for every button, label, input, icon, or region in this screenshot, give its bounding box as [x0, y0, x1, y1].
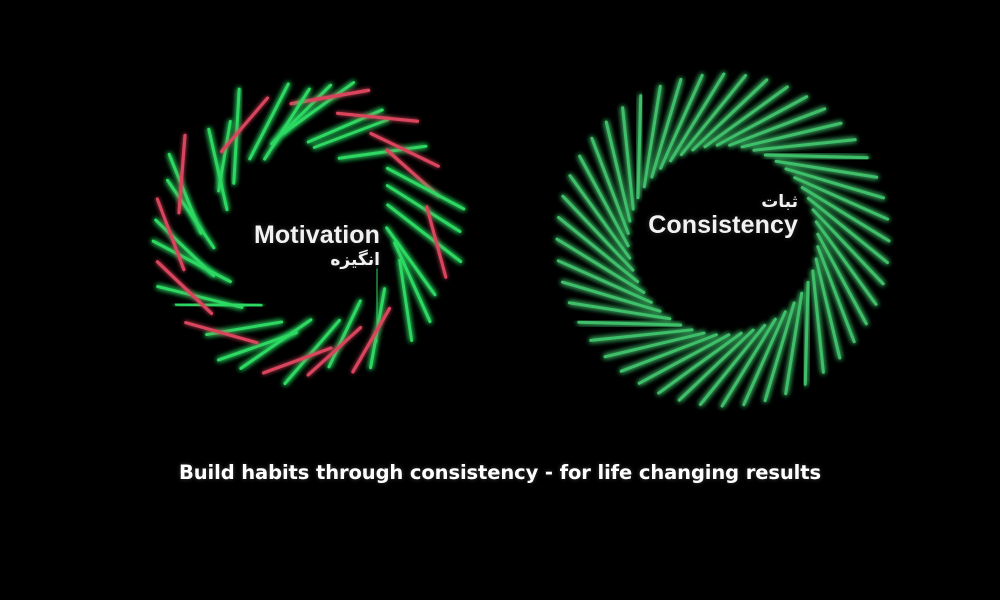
- motivation-segment-green: [265, 89, 310, 159]
- motivation-segment-green: [250, 84, 289, 159]
- consistency-segment-green: [805, 282, 808, 384]
- consistency-label-fa: ثبات: [618, 194, 798, 211]
- motivation-segment-green: [209, 129, 227, 209]
- motivation-segment-red: [338, 113, 418, 121]
- consistency-segment-green: [765, 155, 867, 158]
- motivation-segment-green: [219, 121, 231, 191]
- consistency-segment-green: [638, 96, 641, 198]
- consistency-label: ثبات Consistency: [618, 194, 798, 239]
- motivation-segment-red: [186, 323, 257, 343]
- motivation-segment-green: [387, 168, 464, 209]
- consistency-segment-green: [786, 169, 884, 198]
- motivation-segment-green: [400, 260, 412, 340]
- consistency-segment-green: [579, 322, 681, 325]
- consistency-segment-green: [562, 282, 660, 311]
- motivation-label: Motivation انگیزه: [175, 223, 380, 269]
- motivation-segment-green: [387, 186, 460, 232]
- motivation-segment-green: [176, 304, 261, 305]
- poster-canvas: Motivation انگیزه ثبات Consistency Build…: [0, 0, 1000, 600]
- motivation-label-en: Motivation: [175, 223, 380, 249]
- motivation-segment-green: [169, 154, 201, 233]
- motivation-segment-green: [285, 320, 340, 383]
- motivation-segment-green: [387, 228, 435, 295]
- consistency-segment-group: [557, 74, 889, 406]
- motivation-label-fa: انگیزه: [175, 252, 380, 269]
- motivation-segment-red: [308, 328, 360, 375]
- consistency-label-en: Consistency: [618, 213, 798, 239]
- radial-segments-artwork: [0, 0, 1000, 600]
- motivation-segment-red: [371, 134, 438, 167]
- consistency-segment-green: [652, 79, 681, 177]
- caption-text: Build habits through consistency - for l…: [0, 461, 1000, 484]
- consistency-segment-green: [765, 303, 794, 401]
